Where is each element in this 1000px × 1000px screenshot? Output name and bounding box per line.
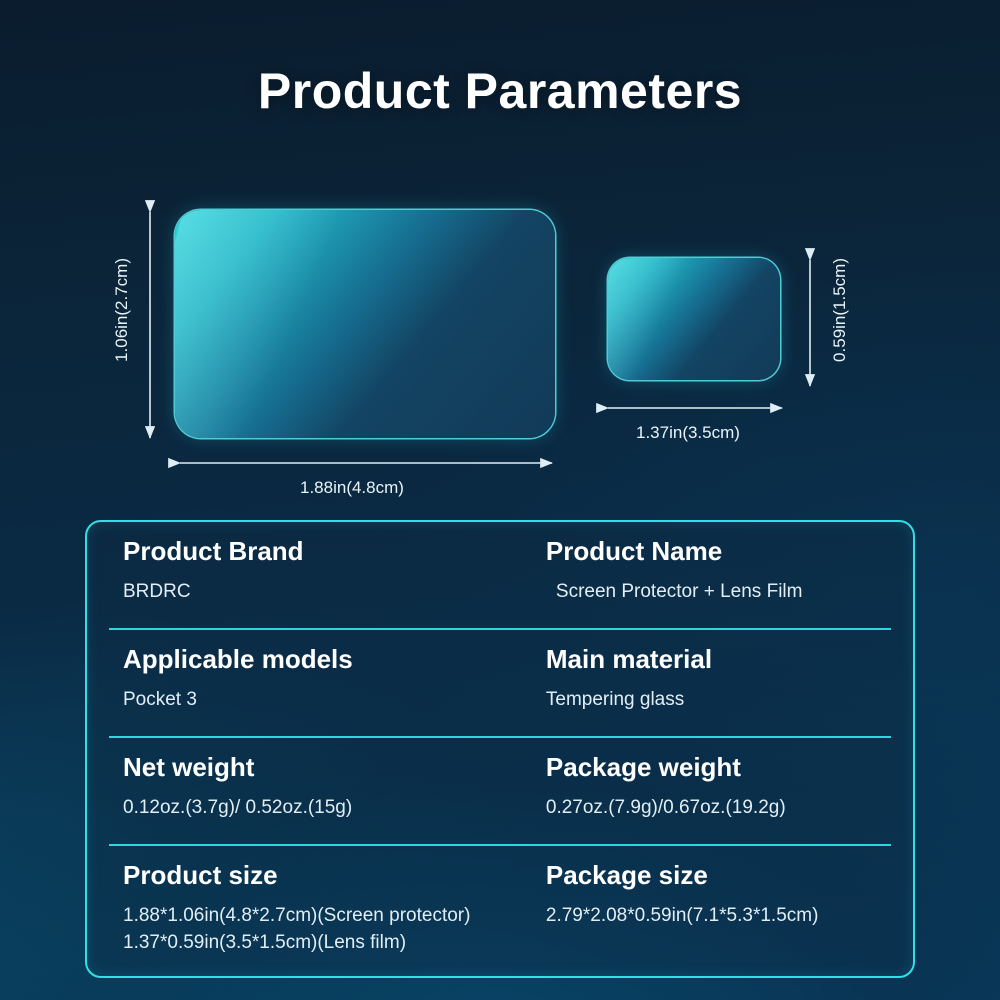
spec-value-secondary: 1.37*0.59in(3.5*1.5cm)(Lens film) [123,930,532,957]
spec-value: 0.27oz.(7.9g)/0.67oz.(19.2g) [546,795,913,822]
spec-value: Tempering glass [546,687,913,714]
spec-key: Applicable models [123,644,532,675]
spec-cell-applicable-models: Applicable models Pocket 3 [87,644,532,738]
spec-value: Pocket 3 [123,687,532,714]
table-row: Product size 1.88*1.06in(4.8*2.7cm)(Scre… [87,846,913,972]
lens-film-width-label: 1.37in(3.5cm) [636,423,740,443]
spec-cell-package-size: Package size 2.79*2.08*0.59in(7.1*5.3*1.… [532,860,913,972]
screen-protector-height-label: 1.06in(2.7cm) [112,258,132,362]
spec-value: BRDRC [123,579,532,606]
spec-key: Package size [546,860,913,891]
screen-protector-width-label: 1.88in(4.8cm) [300,478,404,498]
spec-cell-product-size: Product size 1.88*1.06in(4.8*2.7cm)(Scre… [87,860,532,972]
spec-cell-package-weight: Package weight 0.27oz.(7.9g)/0.67oz.(19.… [532,752,913,846]
dimension-arrows [0,0,1000,510]
lens-film-height-label: 0.59in(1.5cm) [830,258,850,362]
spec-key: Product Brand [123,536,532,567]
spec-key: Net weight [123,752,532,783]
spec-value: 1.88*1.06in(4.8*2.7cm)(Screen protector) [123,903,532,930]
spec-cell-net-weight: Net weight 0.12oz.(3.7g)/ 0.52oz.(15g) [87,752,532,846]
specifications-table: Product Brand BRDRC Product Name Screen … [85,520,915,978]
spec-cell-product-name: Product Name Screen Protector + Lens Fil… [532,536,913,630]
spec-key: Product size [123,860,532,891]
spec-value: 0.12oz.(3.7g)/ 0.52oz.(15g) [123,795,532,822]
spec-cell-product-brand: Product Brand BRDRC [87,536,532,630]
table-row: Product Brand BRDRC Product Name Screen … [87,522,913,630]
table-row: Net weight 0.12oz.(3.7g)/ 0.52oz.(15g) P… [87,738,913,846]
product-parameters-page: Product Parameters [0,0,1000,1000]
spec-value: 2.79*2.08*0.59in(7.1*5.3*1.5cm) [546,903,913,930]
spec-key: Main material [546,644,913,675]
spec-key: Package weight [546,752,913,783]
table-row: Applicable models Pocket 3 Main material… [87,630,913,738]
spec-value: Screen Protector + Lens Film [546,579,913,606]
product-dimension-diagram: 1.06in(2.7cm) 1.88in(4.8cm) 0.59in(1.5cm… [0,0,1000,510]
spec-key: Product Name [546,536,913,567]
spec-cell-main-material: Main material Tempering glass [532,644,913,738]
